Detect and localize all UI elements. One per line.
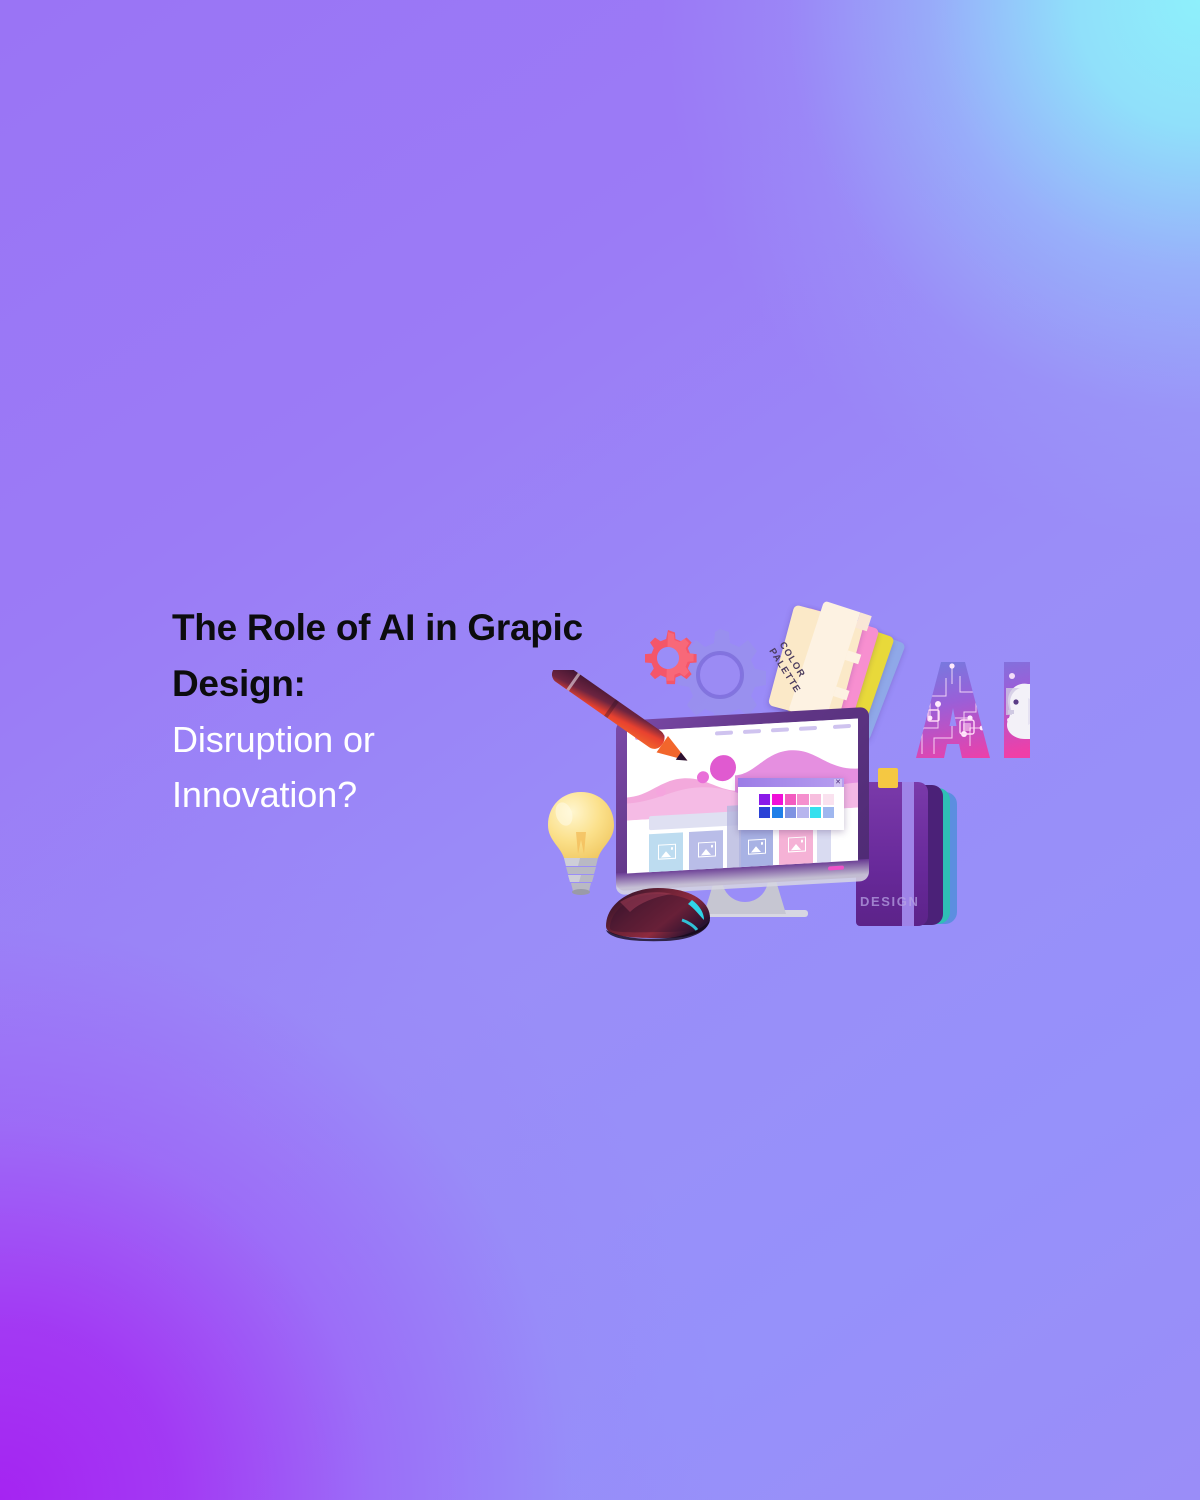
image-placeholder-icon <box>788 836 806 852</box>
swatch-r1c1[interactable] <box>759 794 770 805</box>
graphic-design-ai-illustration: COLOR PALETTE <box>520 590 1060 970</box>
ai-logo <box>908 658 1038 770</box>
swatch-r2c2[interactable] <box>772 807 783 818</box>
swatch-r1c2[interactable] <box>772 794 783 805</box>
swatch-r2c6[interactable] <box>823 807 834 818</box>
swatch-r1c3[interactable] <box>785 794 796 805</box>
swatch-r1c6[interactable] <box>823 794 834 805</box>
screen-image-card-2 <box>689 830 723 872</box>
close-icon[interactable]: ✕ <box>834 779 842 787</box>
screen-nav-item-3 <box>771 727 789 732</box>
swatch-r2c4[interactable] <box>797 807 808 818</box>
image-placeholder-icon <box>698 841 716 857</box>
screen-nav-item-4 <box>799 726 817 731</box>
screen-nav-item-5 <box>833 724 851 729</box>
robot-head-icon <box>1006 684 1036 739</box>
computer-mouse-icon <box>596 880 716 944</box>
color-picker-dialog[interactable]: ✕ <box>738 778 844 830</box>
screen-image-card-3 <box>739 827 773 869</box>
swatch-r2c1[interactable] <box>759 807 770 818</box>
swatch-r1c4[interactable] <box>797 794 808 805</box>
color-swatch-grid[interactable] <box>759 794 834 818</box>
swatch-r1c5[interactable] <box>810 794 821 805</box>
stylus-pen-icon <box>542 670 722 780</box>
swatch-r2c3[interactable] <box>785 807 796 818</box>
screen-nav-item-2 <box>743 729 761 734</box>
swatch-r2c5[interactable] <box>810 807 821 818</box>
screen-image-card-4 <box>779 825 813 867</box>
screen-image-card-1 <box>649 832 683 873</box>
image-placeholder-icon <box>658 844 676 860</box>
image-placeholder-icon <box>748 839 766 855</box>
poster-canvas: The Role of AI in Grapic Design: Disrupt… <box>0 0 1200 1500</box>
color-picker-titlebar: ✕ <box>738 778 844 787</box>
notebook-bookmark-tab <box>878 768 898 788</box>
